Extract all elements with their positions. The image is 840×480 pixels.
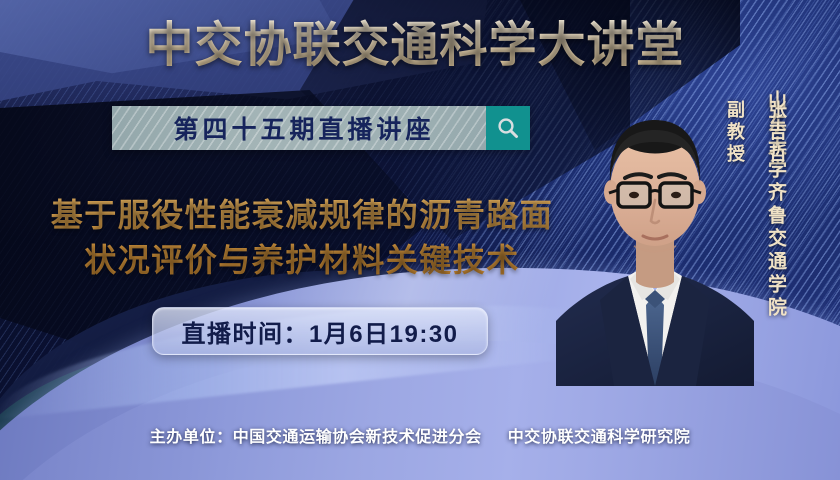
episode-banner: 第四十五期直播讲座 [112,106,530,150]
episode-label: 第四十五期直播讲座 [112,106,486,150]
search-icon-box[interactable] [486,106,530,150]
organizer-org-1: 中国交通运输协会新技术促进分会 [233,429,482,446]
lecture-heading-line-1: 基于服役性能衰减规律的沥青路面 [22,193,582,238]
lecture-poster: 中交协联交通科学大讲堂 第四十五期直播讲座 基于服役性能衰减规律的沥青路面 状况… [0,0,840,480]
speaker-info: 张吉哲 副教授 [722,100,790,300]
speaker-name: 张吉哲 [764,100,790,300]
organizer-footer: 主办单位：中国交通运输协会新技术促进分会中交协联交通科学研究院 [0,423,840,447]
page-title: 中交协联交通科学大讲堂 [130,18,700,75]
speaker-title: 副教授 [722,100,748,300]
lecture-heading-line-2: 状况评价与养护材料关键技术 [22,238,582,283]
search-icon [496,116,520,140]
organizer-org-2: 中交协联交通科学研究院 [508,429,691,446]
lecture-heading: 基于服役性能衰减规律的沥青路面 状况评价与养护材料关键技术 [22,193,582,284]
organizer-label: 主办单位： [150,429,233,446]
broadcast-time-badge: 直播时间：1月6日19:30 [152,307,488,355]
